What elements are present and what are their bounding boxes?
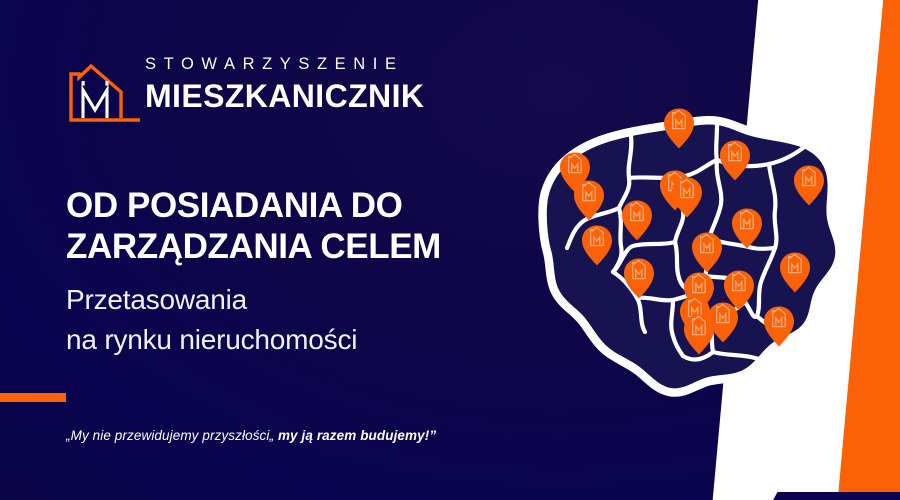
poland-map bbox=[527, 98, 857, 408]
tagline: „My nie przewidujemy przyszłości„ my ją … bbox=[66, 428, 436, 443]
accent-bar bbox=[0, 393, 66, 402]
brand-logo: STOWARZYSZENIE MIESZKANICZNIK bbox=[60, 52, 400, 138]
logo-top-line: STOWARZYSZENIE bbox=[145, 56, 424, 73]
slide-canvas: STOWARZYSZENIE MIESZKANICZNIK OD POSIADA… bbox=[0, 0, 900, 500]
page-title: OD POSIADANIA DO ZARZĄDZANIA CELEM bbox=[66, 186, 441, 268]
page-subtitle: Przetasowania na rynku nieruchomości bbox=[66, 280, 357, 360]
tagline-plain: „My nie przewidujemy przyszłości„ bbox=[66, 428, 278, 443]
house-with-m-icon bbox=[60, 52, 140, 137]
logo-main-line: MIESZKANICZNIK bbox=[145, 80, 424, 112]
diagonal-navy-sliver bbox=[770, 492, 900, 500]
tagline-bold: my ją razem budujemy!” bbox=[278, 428, 436, 443]
